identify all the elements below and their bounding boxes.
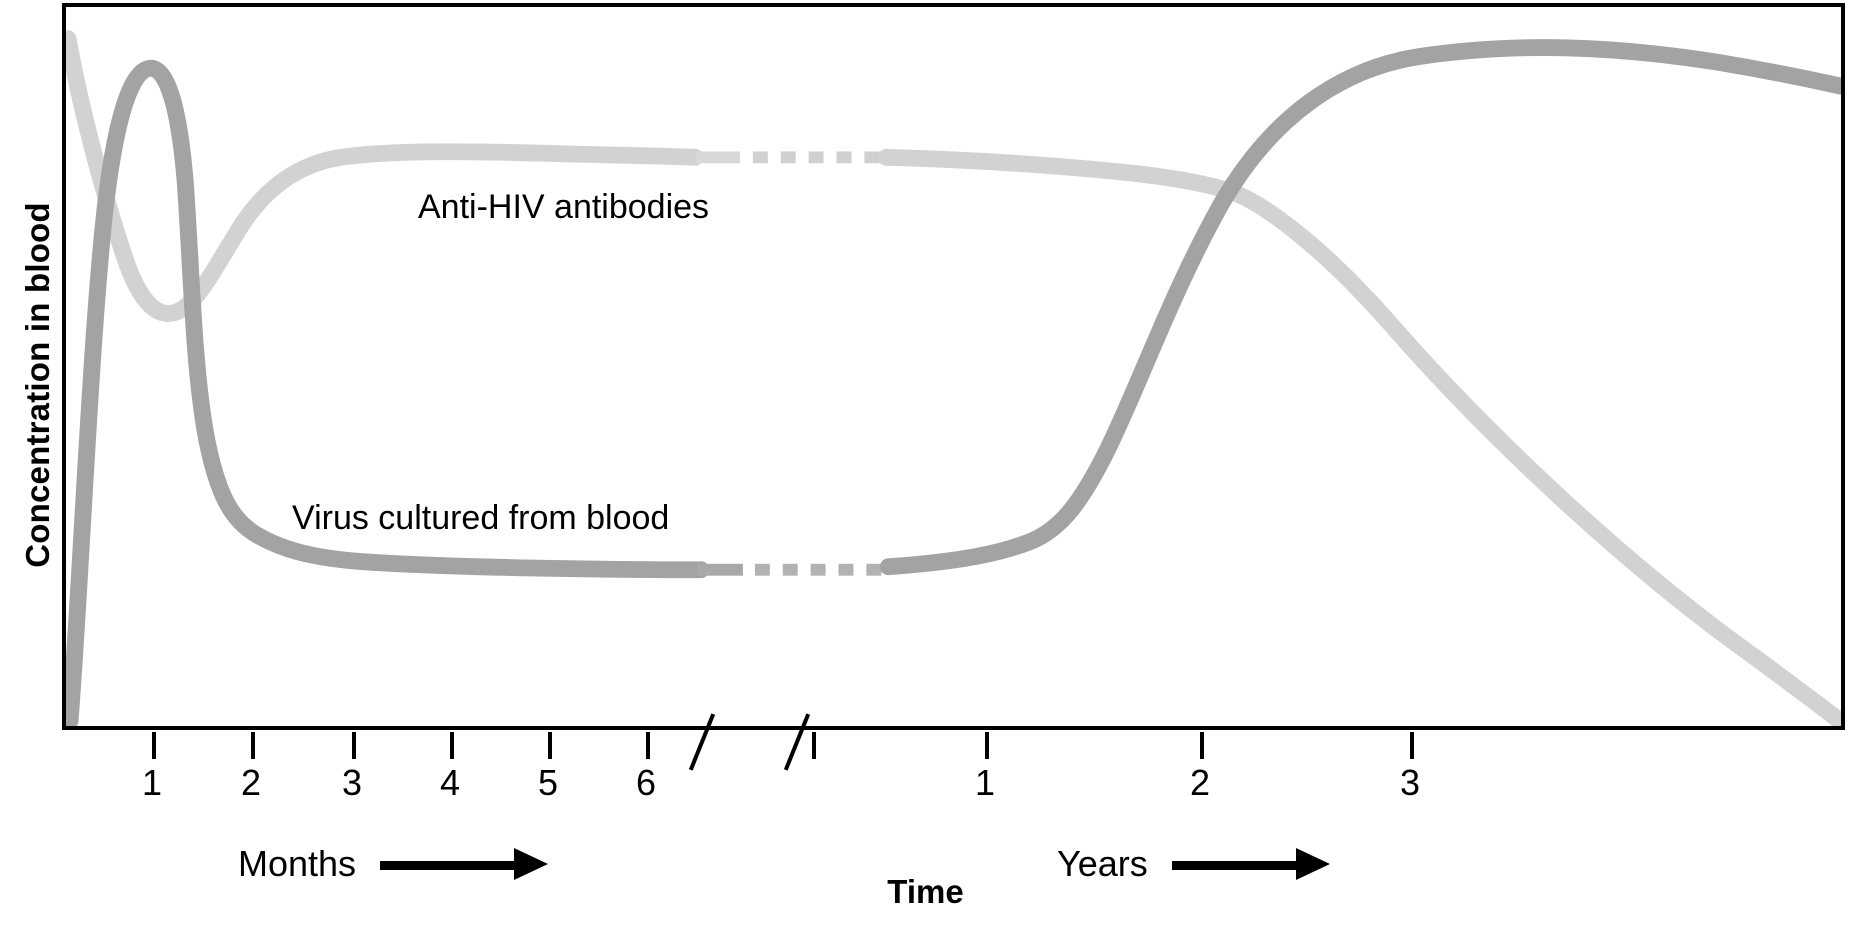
tick-month-1: [152, 732, 156, 759]
y-axis-title: Concentration in blood: [19, 135, 57, 635]
tick-label-month-5: 5: [518, 762, 578, 804]
tick-label-month-1: 1: [122, 762, 182, 804]
tick-month-3: [352, 732, 356, 759]
x-axis-title: Time: [0, 873, 1851, 911]
tick-month-5: [548, 732, 552, 759]
tick-month-2: [251, 732, 255, 759]
antibody-curve-break: [696, 151, 879, 163]
antibody-curve-label: Anti-HIV antibodies: [418, 188, 709, 227]
years-arrow-icon: [1172, 857, 1330, 871]
series-virus-cultured: [70, 48, 1841, 721]
tick-year-1: [985, 732, 989, 759]
virus-curve-left: [70, 68, 701, 721]
antibody-curve-right: [886, 157, 1841, 722]
tick-label-year-2: 2: [1170, 762, 1230, 804]
tick-label-month-3: 3: [322, 762, 382, 804]
tick-label-month-6: 6: [616, 762, 676, 804]
curves-svg: [66, 7, 1841, 726]
tick-label-year-1: 1: [955, 762, 1015, 804]
plot-area: Anti-HIV antibodies Virus cultured from …: [62, 3, 1845, 730]
tick-year-2: [1200, 732, 1204, 759]
months-arrow-icon: [380, 857, 548, 871]
tick-label-month-4: 4: [420, 762, 480, 804]
tick-month-4: [450, 732, 454, 759]
figure-root: Concentration in blood: [0, 0, 1851, 928]
tick-year-3: [1410, 732, 1414, 759]
tick-post-break: [812, 732, 816, 759]
tick-label-year-3: 3: [1380, 762, 1440, 804]
tick-label-month-2: 2: [221, 762, 281, 804]
series-anti-hiv-antibodies: [68, 39, 1841, 722]
tick-month-6: [646, 732, 650, 759]
virus-curve-break: [697, 564, 881, 576]
virus-curve-label: Virus cultured from blood: [292, 499, 669, 538]
